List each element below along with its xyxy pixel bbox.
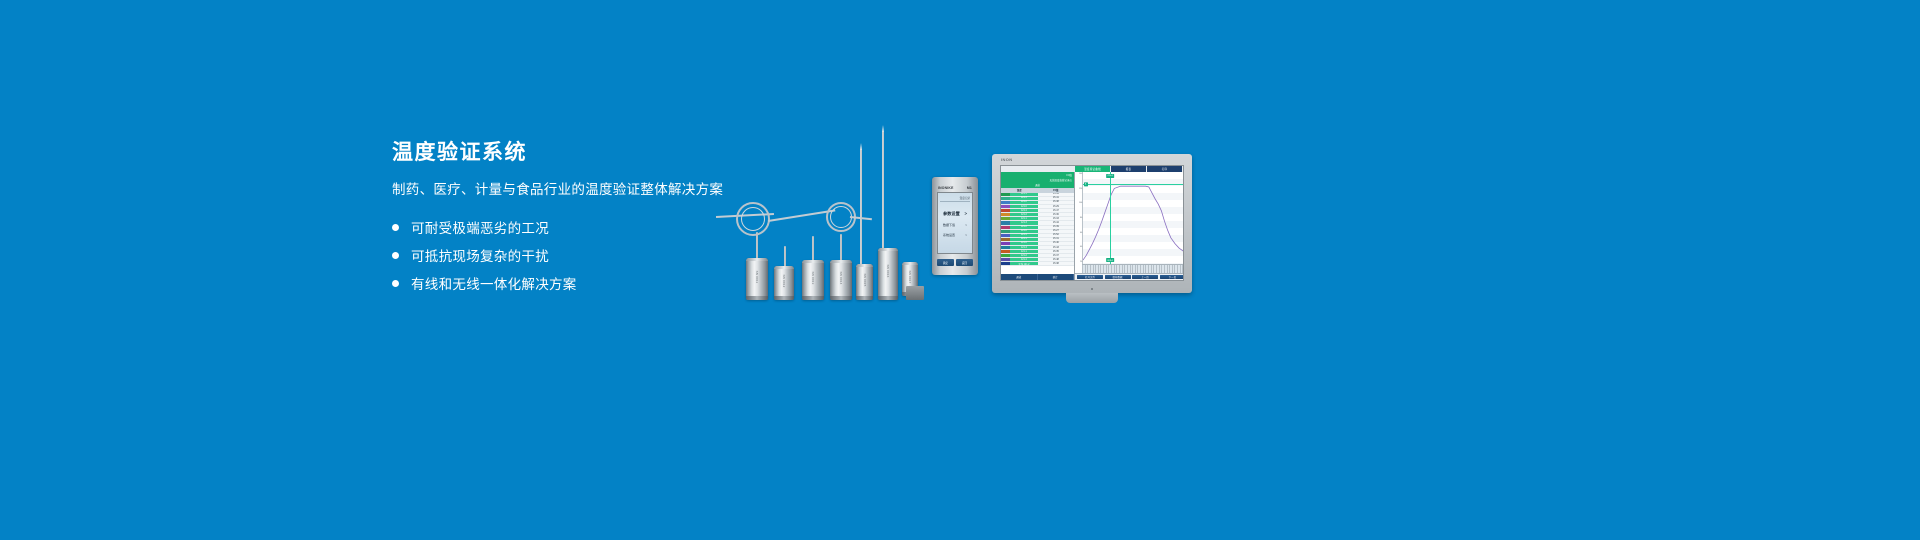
- cell-f0: 15.40: [1038, 242, 1074, 245]
- table-footer-stats[interactable]: 统计: [1038, 274, 1075, 280]
- y-axis-tick: 100: [1076, 202, 1082, 204]
- channel-color-swatch: [1001, 258, 1010, 261]
- long-probe-needle: [860, 150, 862, 280]
- power-led-icon: [1091, 288, 1093, 290]
- handheld-back-button[interactable]: 返回: [956, 259, 973, 266]
- handheld-menu-item-2-label: 数据下载: [943, 223, 955, 227]
- table-footer: 通道 统计: [1001, 274, 1074, 280]
- limit-handle-right[interactable]: B: [1183, 183, 1184, 186]
- handheld-screen: 温度记录 参数设置 > 数据下载 > 系统设置 >: [937, 192, 973, 254]
- cable-coil-inner: [830, 206, 852, 228]
- channel-data-table: F0值 灭菌温度曲线记录仪 通道 温度 F0值 121.115.34121.31…: [1001, 172, 1075, 280]
- cell-f0: 15.34: [1038, 193, 1074, 196]
- limit-handle-left[interactable]: A: [1084, 183, 1088, 186]
- cell-temperature: 121.2: [1010, 254, 1038, 257]
- cell-temperature: 121.2: [1010, 213, 1038, 216]
- y-axis-tick: 140: [1076, 173, 1082, 175]
- channel-color-swatch: [1001, 250, 1010, 253]
- cell-temperature: 121.3: [1010, 246, 1038, 249]
- handheld-model-label: M1: [967, 186, 972, 190]
- y-axis-tick: 80: [1076, 217, 1082, 219]
- logger-label: SN 0015: [863, 274, 867, 287]
- bullet-dot-icon: [392, 280, 399, 287]
- cell-f0: 15.52: [1038, 234, 1074, 237]
- channel-color-swatch: [1001, 254, 1010, 257]
- logger-label: SN 0017: [908, 271, 912, 284]
- channel-color-swatch: [1001, 201, 1010, 204]
- y-axis-tick: 20: [1076, 261, 1082, 263]
- column-header-f0: F0值: [1038, 188, 1075, 192]
- cell-f0: 15.39: [1038, 226, 1074, 229]
- channel-color-swatch: [1001, 193, 1010, 196]
- cell-temperature: 121.2: [1010, 201, 1038, 204]
- handheld-screen-title: 温度记录: [940, 196, 970, 202]
- channel-color-swatch: [1001, 213, 1010, 216]
- bullet-dot-icon: [392, 224, 399, 231]
- cell-f0: 15.33: [1038, 217, 1074, 220]
- data-logger-3: SN 0013: [802, 260, 824, 300]
- handheld-menu-item-3[interactable]: 系统设置 >: [940, 233, 970, 237]
- cell-temperature: 121.1: [1010, 250, 1038, 253]
- chevron-right-icon: >: [965, 223, 967, 227]
- handheld-keypad: 确定 返回: [937, 259, 973, 266]
- chart-y-axis: 14012010080604020: [1076, 172, 1083, 264]
- column-header-temp: 温度: [1001, 188, 1038, 192]
- cell-f0: 15.36: [1038, 213, 1074, 216]
- logger-label: SN 0014: [839, 271, 843, 284]
- temperature-curve-line: [1083, 172, 1184, 277]
- channel-color-swatch: [1001, 226, 1010, 229]
- cell-temperature: 121.0: [1010, 205, 1038, 208]
- cell-f0: 15.48: [1038, 258, 1074, 261]
- logger-label: SN 0011: [755, 270, 759, 283]
- handheld-brand-label: INONIKE: [938, 186, 954, 190]
- logger-label: SN 0012: [782, 275, 786, 288]
- chart-limit-line: [1083, 184, 1184, 185]
- software-body: F0值 灭菌温度曲线记录仪 通道 温度 F0值 121.115.34121.31…: [1001, 172, 1183, 280]
- cell-f0: 15.27: [1038, 230, 1074, 233]
- cable-coil-inner: [741, 207, 765, 231]
- cell-temperature: 121.5: [1010, 234, 1038, 237]
- table-row[interactable]: 平均 121.215.38: [1001, 262, 1074, 266]
- cell-temperature: 平均 121.2: [1010, 262, 1038, 265]
- chart-plot-area: 14012010080604020 A B 开始点 结束点: [1082, 172, 1184, 264]
- cell-temperature: 121.1: [1010, 238, 1038, 241]
- cell-temperature: 121.4: [1010, 258, 1038, 261]
- feature-bullet-3-label: 有线和无线一体化解决方案: [411, 273, 577, 293]
- data-logger-4: SN 0014: [830, 260, 852, 300]
- validation-software-monitor: INON 温度验证曲线 报表 打印 F0值 灭菌温度曲线记录仪 通道 温: [992, 154, 1192, 293]
- cell-f0: 15.41: [1038, 197, 1074, 200]
- cell-f0: 15.35: [1038, 250, 1074, 253]
- channel-color-swatch: [1001, 242, 1010, 245]
- channel-color-swatch: [1001, 221, 1010, 224]
- cell-f0: 15.38: [1038, 201, 1074, 204]
- bullet-dot-icon: [392, 252, 399, 259]
- cell-f0: 15.38: [1038, 262, 1074, 265]
- logger-label: SN 0013: [811, 271, 815, 284]
- channel-color-swatch: [1001, 197, 1010, 200]
- temperature-curve-chart: 14012010080604020 A B 开始点 结束点: [1075, 172, 1184, 280]
- monitor-stand: [1066, 293, 1118, 303]
- channel-color-swatch: [1001, 262, 1010, 265]
- channel-color-swatch: [1001, 238, 1010, 241]
- data-logger-2: SN 0012: [774, 266, 794, 300]
- y-axis-tick: 40: [1076, 246, 1082, 248]
- monitor-brand-label: INON: [1001, 157, 1013, 162]
- data-logger-5: SN 0015: [856, 264, 873, 300]
- channel-color-swatch: [1001, 205, 1010, 208]
- channel-color-swatch: [1001, 217, 1010, 220]
- cell-f0: 15.31: [1038, 238, 1074, 241]
- cell-f0: 15.43: [1038, 246, 1074, 249]
- cell-f0: 15.37: [1038, 254, 1074, 257]
- cell-temperature: 121.3: [1010, 221, 1038, 224]
- chart-cursor-end-label[interactable]: 结束点: [1106, 258, 1114, 262]
- handheld-menu-item-2[interactable]: 数据下载 >: [940, 223, 970, 227]
- feature-bullet-2-label: 可抵抗现场复杂的干扰: [411, 245, 549, 265]
- data-logger-6: SN 0016: [878, 248, 898, 300]
- chart-cursor-line[interactable]: [1110, 172, 1111, 264]
- product-photo-group: SN 0011 SN 0012 SN 0013 SN 0014 SN 0015 …: [700, 120, 1220, 320]
- cell-f0: 15.44: [1038, 221, 1074, 224]
- handheld-menu-item-1-label: 参数设置: [943, 211, 960, 217]
- channel-color-swatch: [1001, 230, 1010, 233]
- cell-temperature: 121.1: [1010, 193, 1038, 196]
- table-footer-channel[interactable]: 通道: [1001, 274, 1038, 280]
- chevron-right-icon: >: [965, 211, 967, 217]
- chart-cursor-start-label[interactable]: 开始点: [1106, 174, 1114, 178]
- accessory-block: [906, 286, 924, 300]
- logger-label: SN 0016: [886, 265, 890, 278]
- handheld-confirm-button[interactable]: 确定: [937, 259, 954, 266]
- channel-color-swatch: [1001, 234, 1010, 237]
- channel-color-swatch: [1001, 246, 1010, 249]
- handheld-menu-item-3-label: 系统设置: [943, 233, 955, 237]
- feature-bullet-1-label: 可耐受极端恶劣的工况: [411, 217, 549, 237]
- cell-temperature: 121.3: [1010, 197, 1038, 200]
- data-logger-1: SN 0011: [746, 258, 768, 300]
- table-rows-container: 121.115.34121.315.41121.215.38121.015.29…: [1001, 193, 1074, 274]
- channel-color-swatch: [1001, 209, 1010, 212]
- chevron-right-icon: >: [965, 233, 967, 237]
- y-axis-tick: 120: [1076, 188, 1082, 190]
- cell-f0: 15.47: [1038, 209, 1074, 212]
- cell-f0: 15.29: [1038, 205, 1074, 208]
- cell-temperature: 121.4: [1010, 209, 1038, 212]
- cell-temperature: 121.1: [1010, 217, 1038, 220]
- cell-temperature: 121.2: [1010, 242, 1038, 245]
- handheld-reader-device: INONIKE M1 温度记录 参数设置 > 数据下载 > 系统设置 >: [932, 177, 978, 275]
- hero-banner: 温度验证系统 制药、医疗、计量与食品行业的温度验证整体解决方案 可耐受极端恶劣的…: [0, 0, 1920, 540]
- handheld-menu-item-1[interactable]: 参数设置 >: [940, 211, 970, 217]
- cell-temperature: 121.2: [1010, 226, 1038, 229]
- y-axis-tick: 60: [1076, 232, 1082, 234]
- monitor-screen: 温度验证曲线 报表 打印 F0值 灭菌温度曲线记录仪 通道 温度 F0值: [1000, 165, 1184, 281]
- cell-temperature: 121.0: [1010, 230, 1038, 233]
